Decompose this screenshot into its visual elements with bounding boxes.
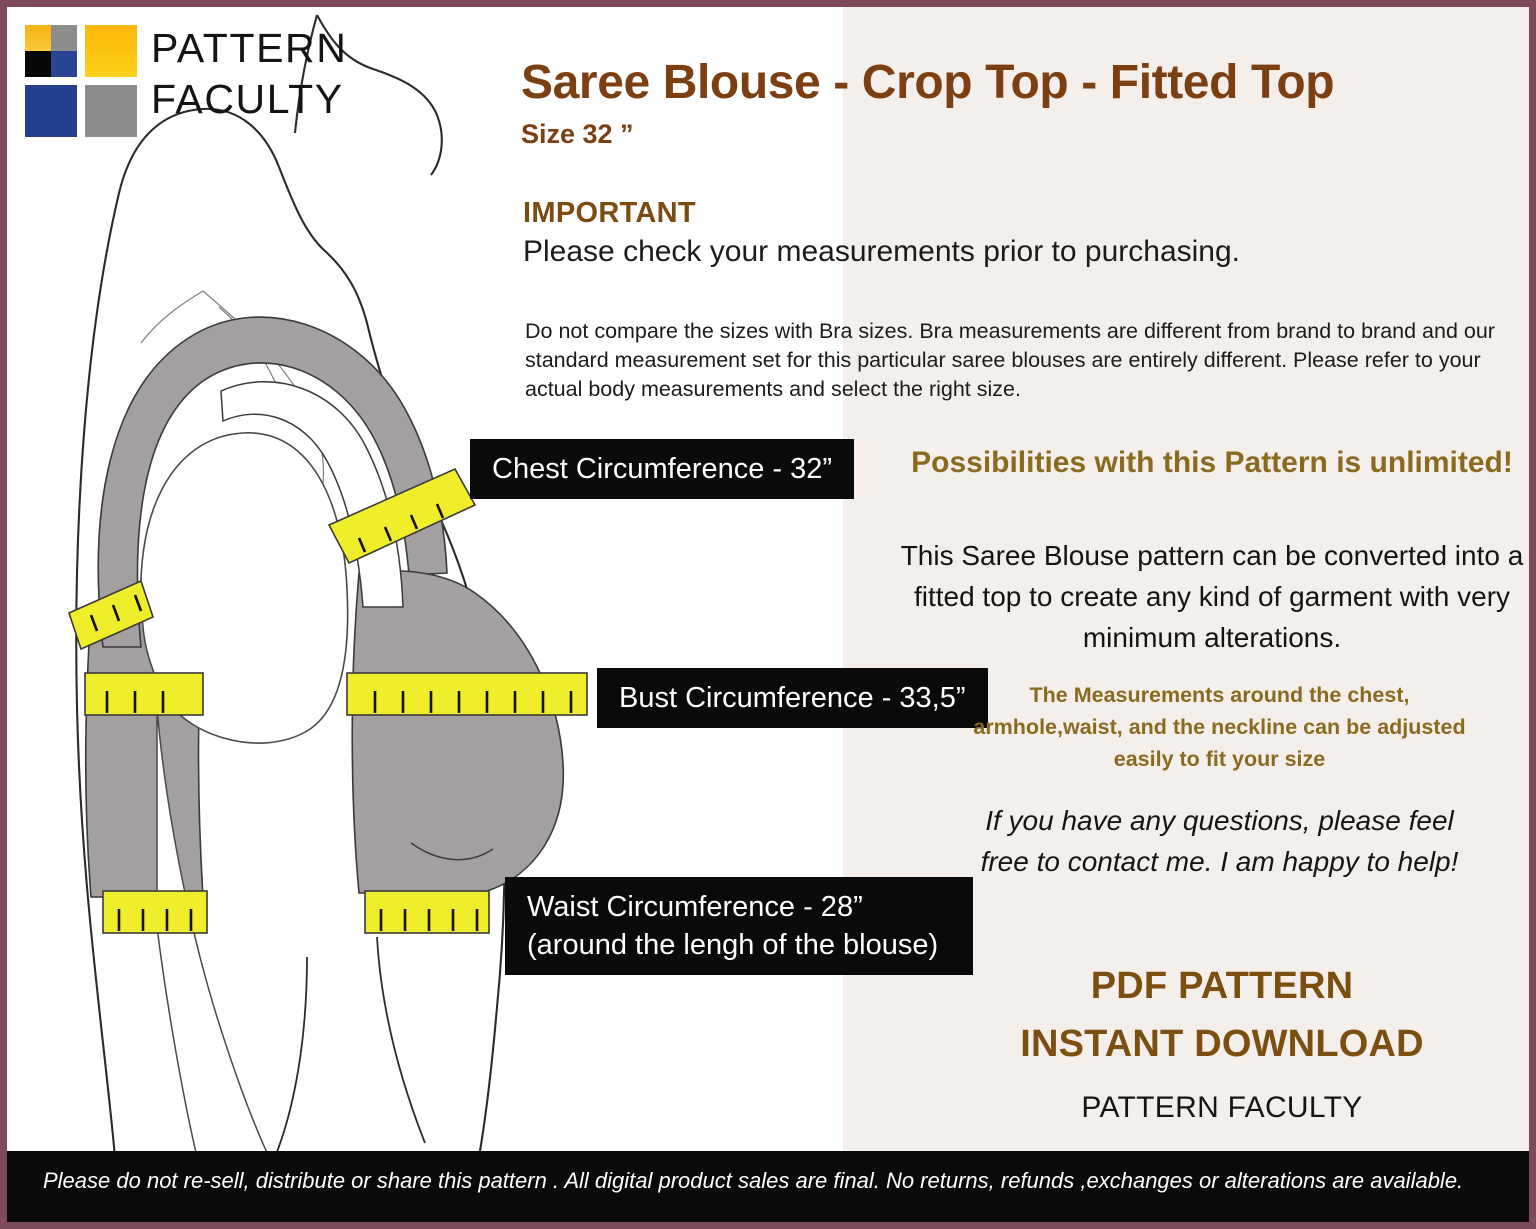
callout-waist-line2: (around the lengh of the blouse) [527, 926, 951, 964]
promo-line-pdf-pattern: PDF PATTERN [937, 957, 1507, 1015]
logo-square-bottomleft-blue [25, 85, 77, 137]
important-subheading: Please check your measurements prior to … [523, 235, 1240, 269]
tape-bust-back [85, 673, 203, 715]
contact-invitation: If you have any questions, please feel f… [962, 800, 1477, 882]
logo-wordmark: PATTERN FACULTY [151, 23, 347, 125]
callout-chest-circumference: Chest Circumference - 32” [470, 439, 854, 499]
logo-quadrant-black [25, 51, 51, 77]
callout-waist-circumference: Waist Circumference - 28” (around the le… [505, 877, 973, 975]
lower-body-outline [275, 937, 425, 1157]
callout-bust-circumference: Bust Circumference - 33,5” [597, 668, 988, 728]
measurements-adjust-note: The Measurements around the chest, armho… [962, 679, 1477, 775]
logo-wordmark-line1: PATTERN [151, 23, 347, 74]
possibilities-heading: Possibilities with this Pattern is unlim… [907, 440, 1517, 485]
promo-brand-name: PATTERN FACULTY [937, 1091, 1507, 1125]
important-note: Do not compare the sizes with Bra sizes.… [525, 317, 1495, 404]
logo-square-topleft [25, 25, 77, 77]
tape-waist-back [103, 891, 207, 933]
important-heading: IMPORTANT [523, 197, 696, 230]
body-measurement-diagram [7, 7, 647, 1157]
callout-waist-line1: Waist Circumference - 28” [527, 888, 951, 926]
promo-block: PDF PATTERN INSTANT DOWNLOAD [937, 957, 1507, 1073]
torso-side-view-svg [7, 7, 647, 1157]
logo-quadrant-blue [51, 51, 77, 77]
garment-front-cup [352, 571, 563, 898]
page-title: Saree Blouse - Crop Top - Fitted Top [521, 55, 1334, 110]
footer-bar: Please do not re-sell, distribute or sha… [7, 1151, 1529, 1222]
possibilities-body: This Saree Blouse pattern can be convert… [897, 535, 1527, 658]
logo-grid-icon [25, 25, 137, 137]
logo-wordmark-line2: FACULTY [151, 74, 347, 125]
tape-bust-front [347, 673, 587, 715]
size-label: Size 32 ” [521, 119, 634, 150]
logo-square-topright-orange [85, 25, 137, 77]
logo-square-bottomright-gray [85, 85, 137, 137]
poster-page: PATTERN FACULTY Saree Blouse - Crop Top … [0, 0, 1536, 1229]
promo-line-instant-download: INSTANT DOWNLOAD [937, 1015, 1507, 1073]
tape-waist-front [365, 891, 489, 933]
brand-logo: PATTERN FACULTY [25, 25, 345, 145]
logo-quadrant-gray [51, 25, 77, 51]
footer-disclaimer: Please do not re-sell, distribute or sha… [43, 1168, 1463, 1194]
logo-quadrant-orange [25, 25, 51, 51]
